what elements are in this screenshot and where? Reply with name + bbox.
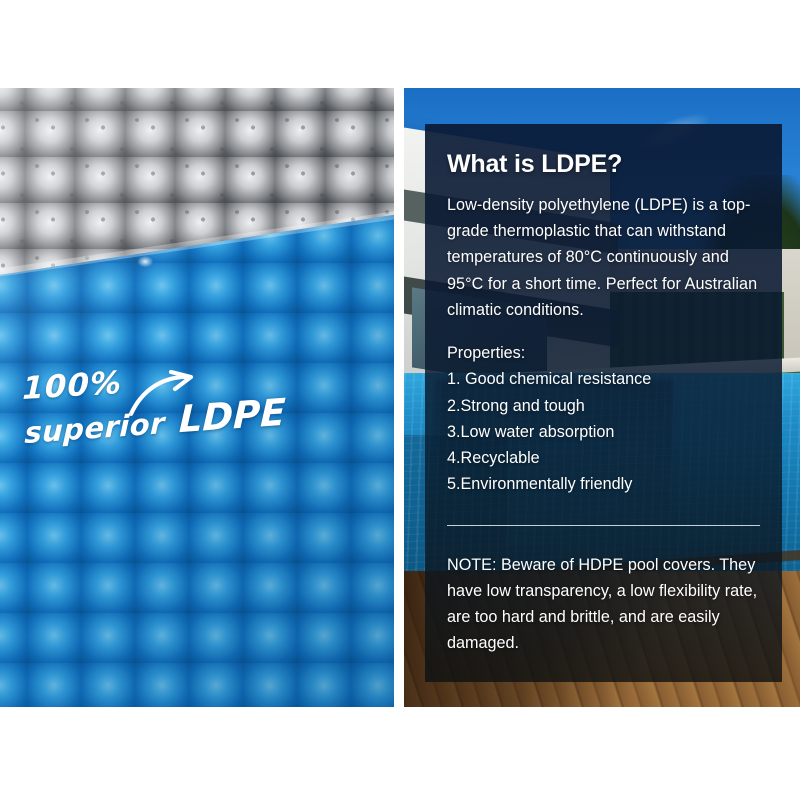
promo-image-canvas: 100% superiorLDPE <box>0 0 800 800</box>
list-item: 3.Low water absorption <box>447 419 760 445</box>
card-title: What is LDPE? <box>447 150 760 179</box>
list-item: 4.Recyclable <box>447 445 760 471</box>
card-divider <box>447 525 760 526</box>
properties-label: Properties: <box>447 340 760 366</box>
right-info-panel: What is LDPE? Low-density polyethylene (… <box>404 88 800 707</box>
left-product-texture-panel: 100% superiorLDPE <box>0 88 394 707</box>
list-item: 5.Environmentally friendly <box>447 471 760 497</box>
ldpe-info-card: What is LDPE? Low-density polyethylene (… <box>425 124 782 682</box>
properties-list: 1. Good chemical resistance 2.Strong and… <box>447 366 760 497</box>
list-item: 1. Good chemical resistance <box>447 366 760 392</box>
card-note-text: NOTE: Beware of HDPE pool covers. They h… <box>447 552 760 657</box>
list-item: 2.Strong and tough <box>447 393 760 419</box>
card-body-text: Low-density polyethylene (LDPE) is a top… <box>447 192 760 323</box>
